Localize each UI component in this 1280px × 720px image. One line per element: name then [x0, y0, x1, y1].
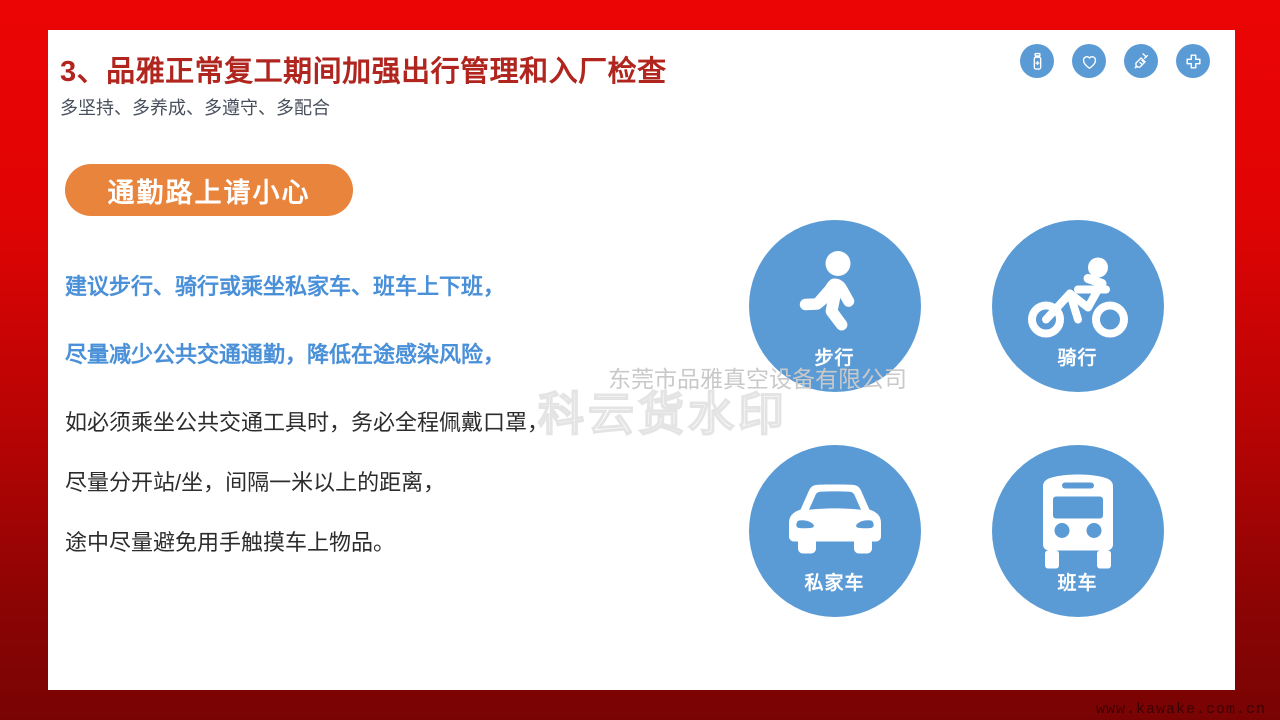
car-icon [785, 485, 885, 564]
syringe-icon[interactable] [1124, 44, 1158, 78]
body-line-3: 如必须乘坐公共交通工具时，务必全程佩戴口罩， [65, 408, 675, 438]
body-text-block: 建议步行、骑行或乘坐私家车、班车上下班， 尽量减少公共交通通勤，降低在途感染风险… [65, 272, 675, 558]
commute-badge-label: 通勤路上请小心 [108, 171, 311, 210]
transport-label-private-car: 私家车 [749, 568, 921, 595]
transport-label-shuttle-bus: 班车 [992, 568, 1164, 595]
body-line-4: 尽量分开站/坐，间隔一米以上的距离， [65, 468, 675, 498]
footer-url: www.kawake.com.cn [1096, 701, 1266, 718]
slide-content-card: 3、品雅正常复工期间加强出行管理和入厂检查 多坚持、多养成、多遵守、多配合 [48, 30, 1235, 690]
transport-label-walking: 步行 [749, 343, 921, 370]
transport-item-cycling[interactable]: 骑行 [992, 220, 1164, 392]
transport-label-cycling: 骑行 [992, 343, 1164, 370]
transport-mode-grid: 步行 骑行 [713, 220, 1213, 670]
heart-icon[interactable] [1072, 44, 1106, 78]
page-subtitle: 多坚持、多养成、多遵守、多配合 [60, 94, 330, 120]
transport-item-shuttle-bus[interactable]: 班车 [992, 445, 1164, 617]
slide-root: 3、品雅正常复工期间加强出行管理和入厂检查 多坚持、多养成、多遵守、多配合 [0, 0, 1280, 720]
transport-item-private-car[interactable]: 私家车 [749, 445, 921, 617]
page-title: 3、品雅正常复工期间加强出行管理和入厂检查 [60, 48, 667, 90]
bus-icon [1037, 475, 1119, 574]
body-line-2: 尽量减少公共交通通勤，降低在途感染风险， [65, 340, 675, 370]
walking-person-icon [796, 251, 874, 348]
body-line-1: 建议步行、骑行或乘坐私家车、班车上下班， [65, 272, 675, 302]
body-line-5: 途中尽量避免用手触摸车上物品。 [65, 528, 675, 558]
medicine-bottle-icon[interactable] [1020, 44, 1054, 78]
commute-badge: 通勤路上请小心 [65, 164, 353, 216]
bicycle-rider-icon [1026, 254, 1130, 345]
header-icon-row [1020, 44, 1210, 78]
transport-item-walking[interactable]: 步行 [749, 220, 921, 392]
medical-cross-icon[interactable] [1176, 44, 1210, 78]
